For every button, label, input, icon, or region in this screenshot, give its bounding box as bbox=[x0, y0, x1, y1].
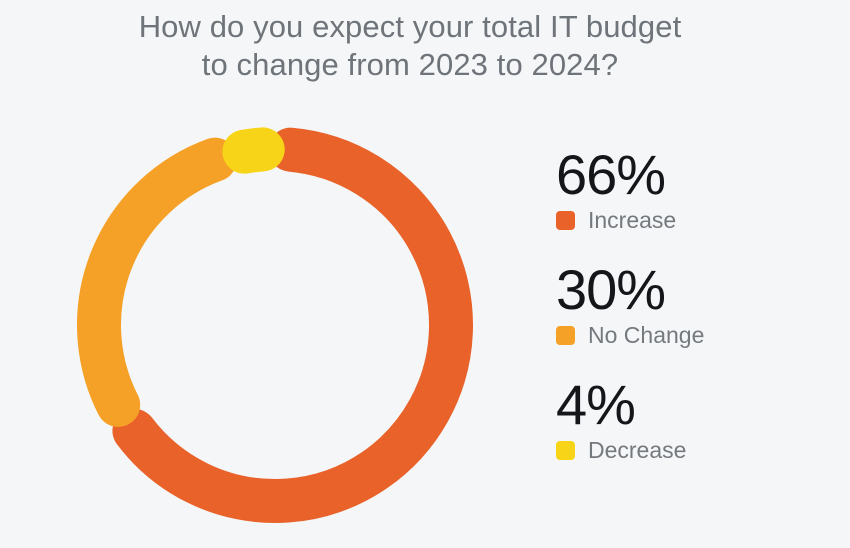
legend-swatch-decrease bbox=[556, 441, 575, 460]
legend-item-increase[interactable]: 66% Increase bbox=[556, 146, 836, 233]
legend-item-decrease[interactable]: 4% Decrease bbox=[556, 376, 836, 463]
legend-label-no-change: No Change bbox=[588, 323, 704, 348]
legend-item-no-change[interactable]: 30% No Change bbox=[556, 261, 836, 348]
legend-row-increase: Increase bbox=[556, 208, 836, 233]
donut-chart-svg bbox=[68, 118, 482, 532]
donut-arc-group bbox=[99, 149, 451, 501]
donut-segment-decrease[interactable] bbox=[244, 149, 262, 151]
chart-legend: 66% Increase 30% No Change 4% Decrease bbox=[556, 146, 836, 463]
legend-value-no-change: 30% bbox=[556, 261, 836, 319]
page-title: How do you expect your total IT budget t… bbox=[0, 8, 820, 84]
donut-segment-no-change[interactable] bbox=[99, 160, 215, 405]
donut-segment-increase[interactable] bbox=[134, 150, 451, 501]
legend-swatch-increase bbox=[556, 211, 575, 230]
legend-label-increase: Increase bbox=[588, 208, 676, 233]
legend-row-decrease: Decrease bbox=[556, 438, 836, 463]
chart-container: How do you expect your total IT budget t… bbox=[0, 0, 850, 548]
legend-label-decrease: Decrease bbox=[588, 438, 686, 463]
page-title-line-2: to change from 2023 to 2024? bbox=[0, 46, 820, 84]
donut-chart bbox=[68, 118, 482, 532]
legend-value-increase: 66% bbox=[556, 146, 836, 204]
legend-row-no-change: No Change bbox=[556, 323, 836, 348]
legend-swatch-no-change bbox=[556, 326, 575, 345]
page-title-line-1: How do you expect your total IT budget bbox=[0, 8, 820, 46]
legend-value-decrease: 4% bbox=[556, 376, 836, 434]
